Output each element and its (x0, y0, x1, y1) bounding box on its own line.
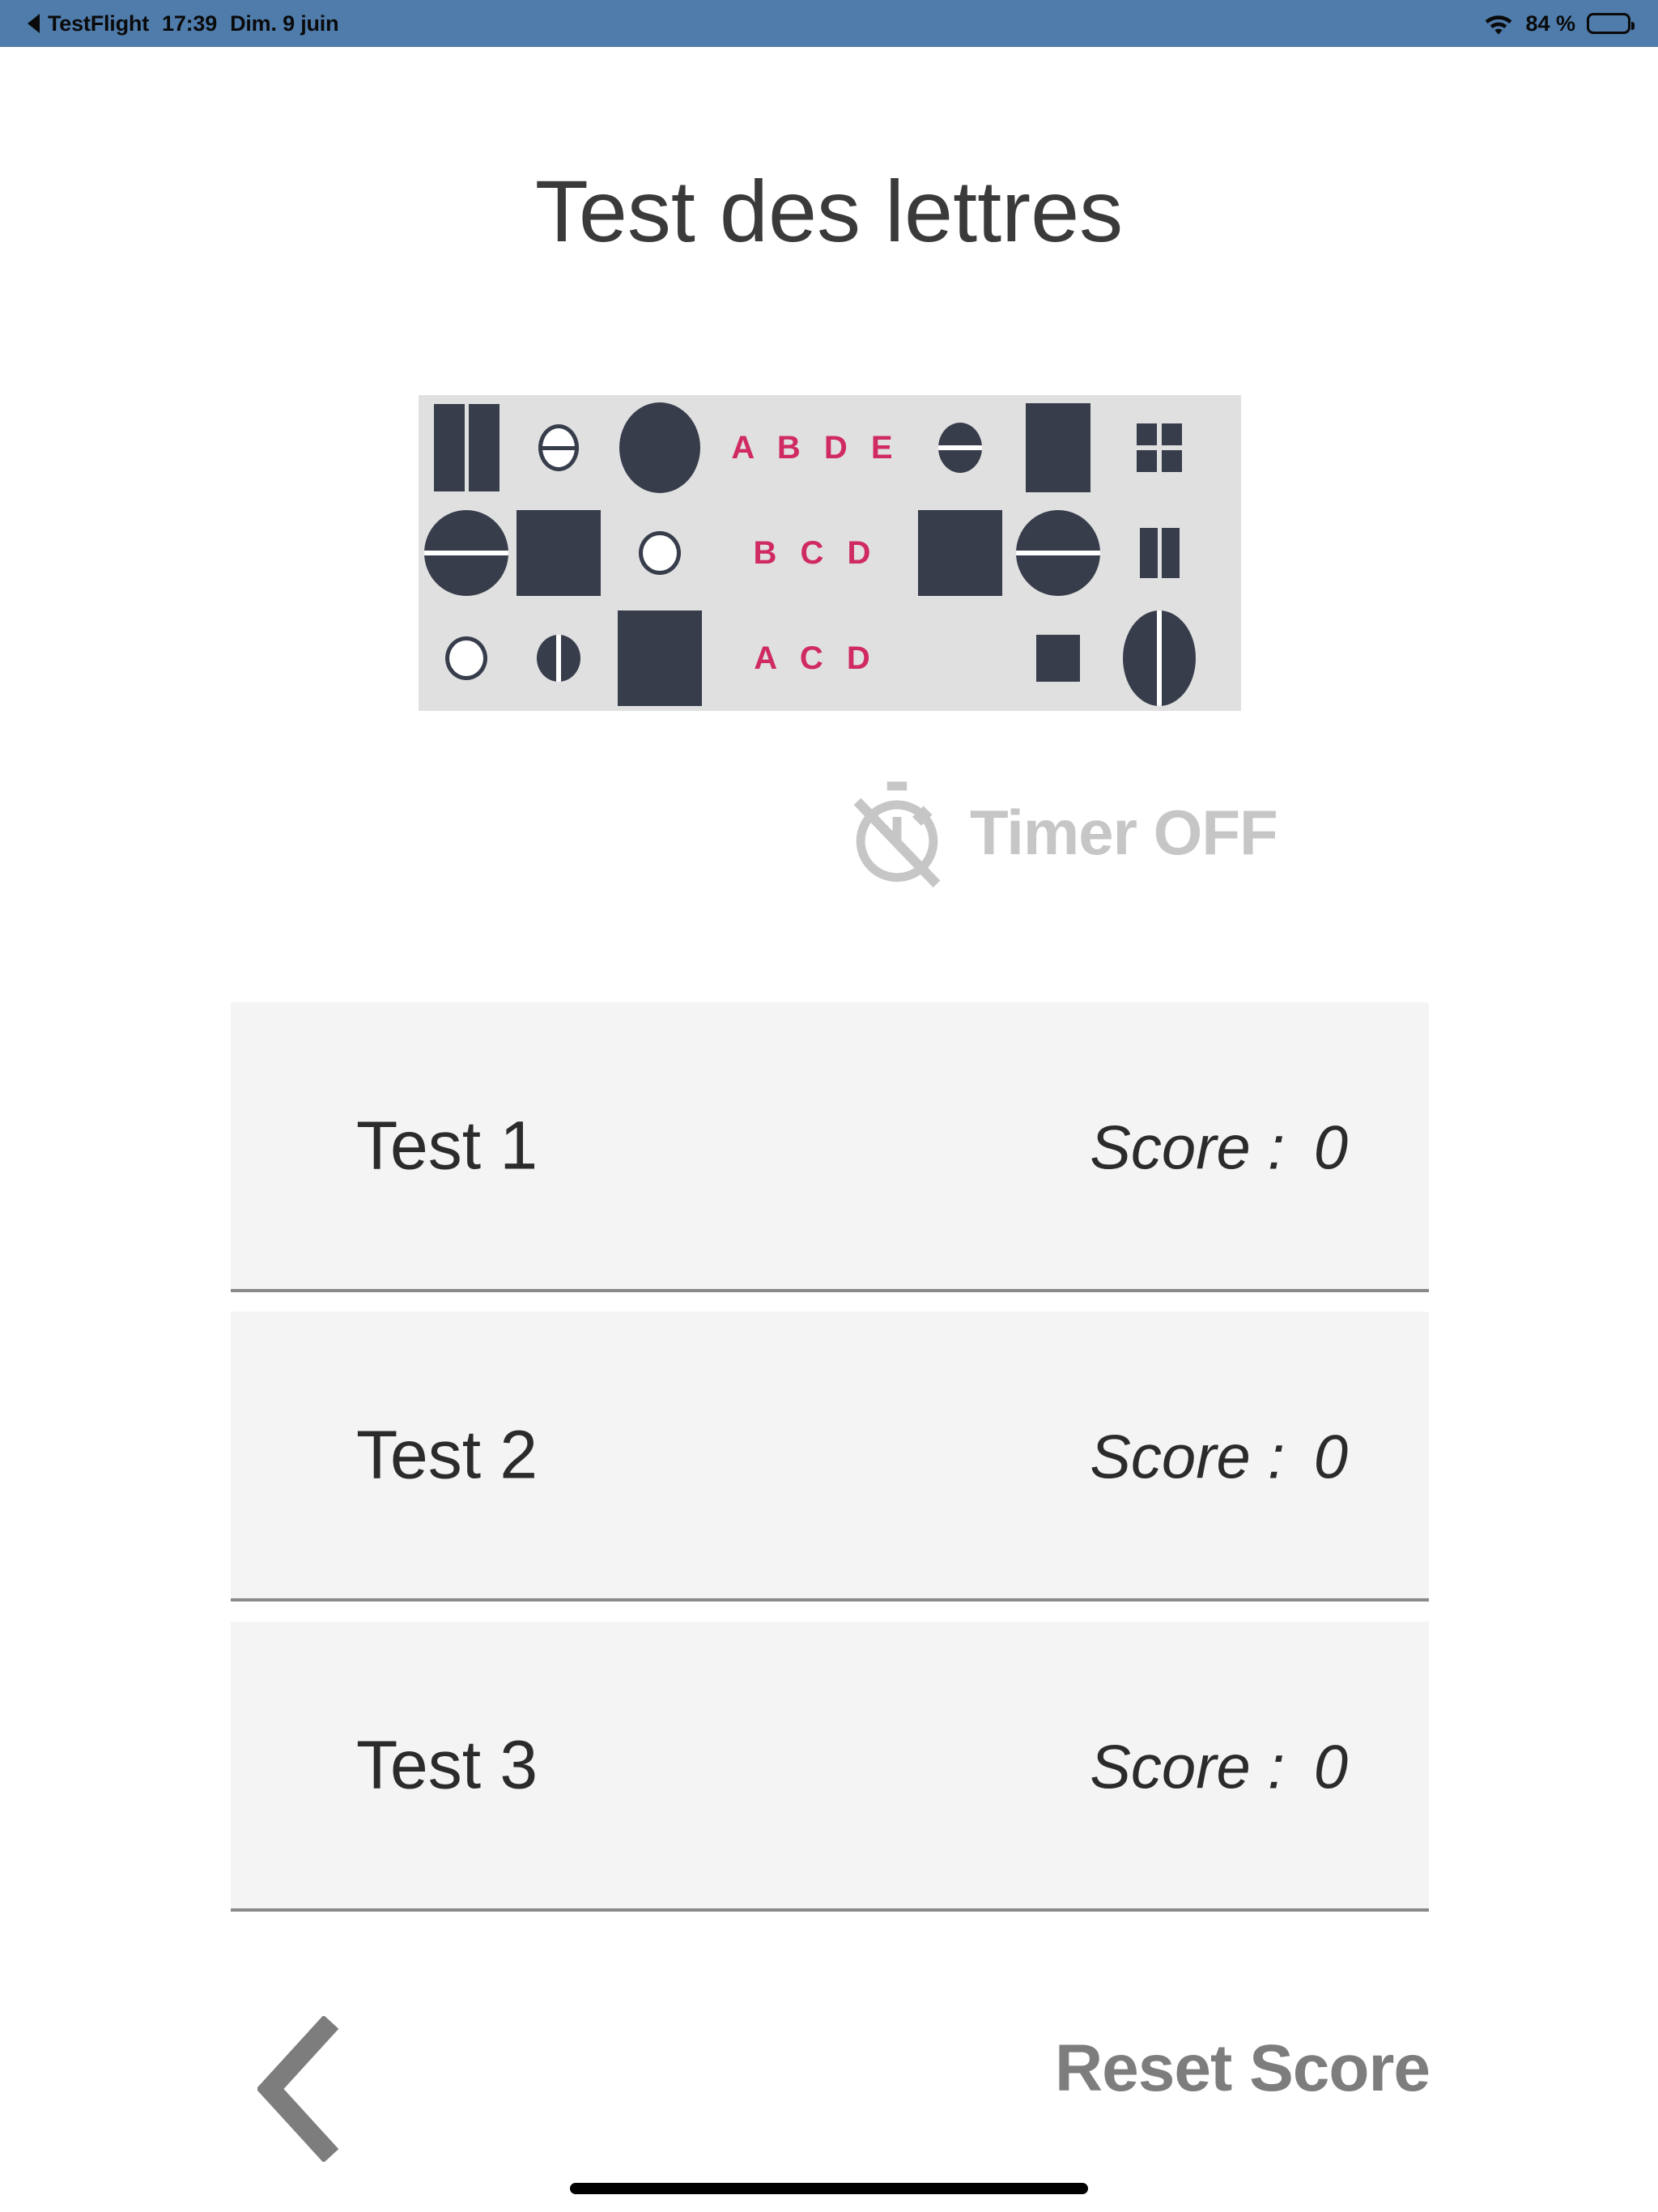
test-name-1: Test 1 (356, 1107, 538, 1185)
symbol-solid-circle-split-vertical-large (1111, 606, 1208, 710)
test-score-label-2: Score : (1090, 1423, 1285, 1493)
symbol-two-vertical-bars (419, 396, 514, 500)
test-score-label-1: Score : (1090, 1113, 1285, 1184)
chevron-left-icon[interactable] (257, 2016, 346, 2162)
test-score-value-2: 0 (1285, 1423, 1429, 1493)
back-triangle-icon[interactable] (28, 14, 40, 33)
test-name-3: Test 3 (356, 1726, 538, 1805)
symbol-row-2-letters: B C D (716, 535, 915, 572)
status-bar-back-app[interactable]: TestFlight (48, 11, 149, 36)
symbol-solid-oval-split-horizontal (915, 396, 1005, 500)
home-indicator[interactable] (570, 2183, 1088, 2194)
timer-toggle[interactable]: Timer OFF (842, 777, 1278, 887)
symbol-solid-circle (603, 396, 716, 500)
status-bar: TestFlight 17:39 Dim. 9 juin 84 % (0, 0, 1658, 47)
symbol-solid-circle-split-horizontal-large (419, 501, 514, 605)
test-row-2[interactable]: Test 2 Score : 0 (231, 1312, 1429, 1602)
symbol-quartered-square-outline-right (915, 501, 1005, 605)
symbol-quartered-square-dark (1111, 396, 1208, 500)
status-bar-left: TestFlight 17:39 Dim. 9 juin (28, 11, 338, 36)
wifi-icon (1483, 12, 1514, 35)
test-score-label-3: Score : (1090, 1733, 1285, 1803)
symbol-row-3-letters: A C D (716, 640, 915, 677)
reset-score-button[interactable]: Reset Score (1055, 2031, 1430, 2107)
symbol-row-3: A C D (419, 606, 1241, 710)
symbol-quartered-square-outline (514, 501, 603, 605)
symbol-two-vertical-bars-small (1111, 501, 1208, 605)
test-score-value-1: 0 (1285, 1113, 1429, 1184)
symbol-two-horizontal-bars (915, 606, 1005, 710)
status-bar-right: 84 % (1483, 11, 1630, 36)
symbol-small-circle-outline-row3 (419, 606, 514, 710)
symbol-solid-circle-split-vertical-small (514, 606, 603, 710)
symbol-small-circle-outline (603, 501, 716, 605)
symbol-row-2: B C D (419, 501, 1241, 605)
symbol-reference-panel: A B D E B C D (419, 395, 1241, 711)
test-row-3[interactable]: Test 3 Score : 0 (231, 1622, 1429, 1912)
test-name-2: Test 2 (356, 1416, 538, 1495)
battery-icon (1587, 13, 1630, 34)
symbol-small-quartered-square-outline (1005, 606, 1111, 710)
symbol-row-1-letters: A B D E (716, 430, 915, 466)
stopwatch-off-icon (842, 777, 952, 887)
symbol-vertical-split-rectangle-outline (1005, 396, 1111, 500)
status-bar-date: Dim. 9 juin (230, 11, 338, 36)
page-title: Test des lettres (0, 160, 1658, 262)
status-bar-time: 17:39 (162, 11, 217, 36)
battery-percent-label: 84 % (1525, 11, 1575, 36)
test-score-value-3: 0 (1285, 1733, 1429, 1803)
test-row-1[interactable]: Test 1 Score : 0 (231, 1002, 1429, 1292)
symbol-solid-circle-split-horizontal-right (1005, 501, 1111, 605)
symbol-split-circle-outline-horizontal (514, 396, 603, 500)
timer-status-label: Timer OFF (970, 796, 1278, 870)
symbol-row-1: A B D E (419, 396, 1241, 500)
symbol-quartered-square-outline-row3 (603, 606, 716, 710)
